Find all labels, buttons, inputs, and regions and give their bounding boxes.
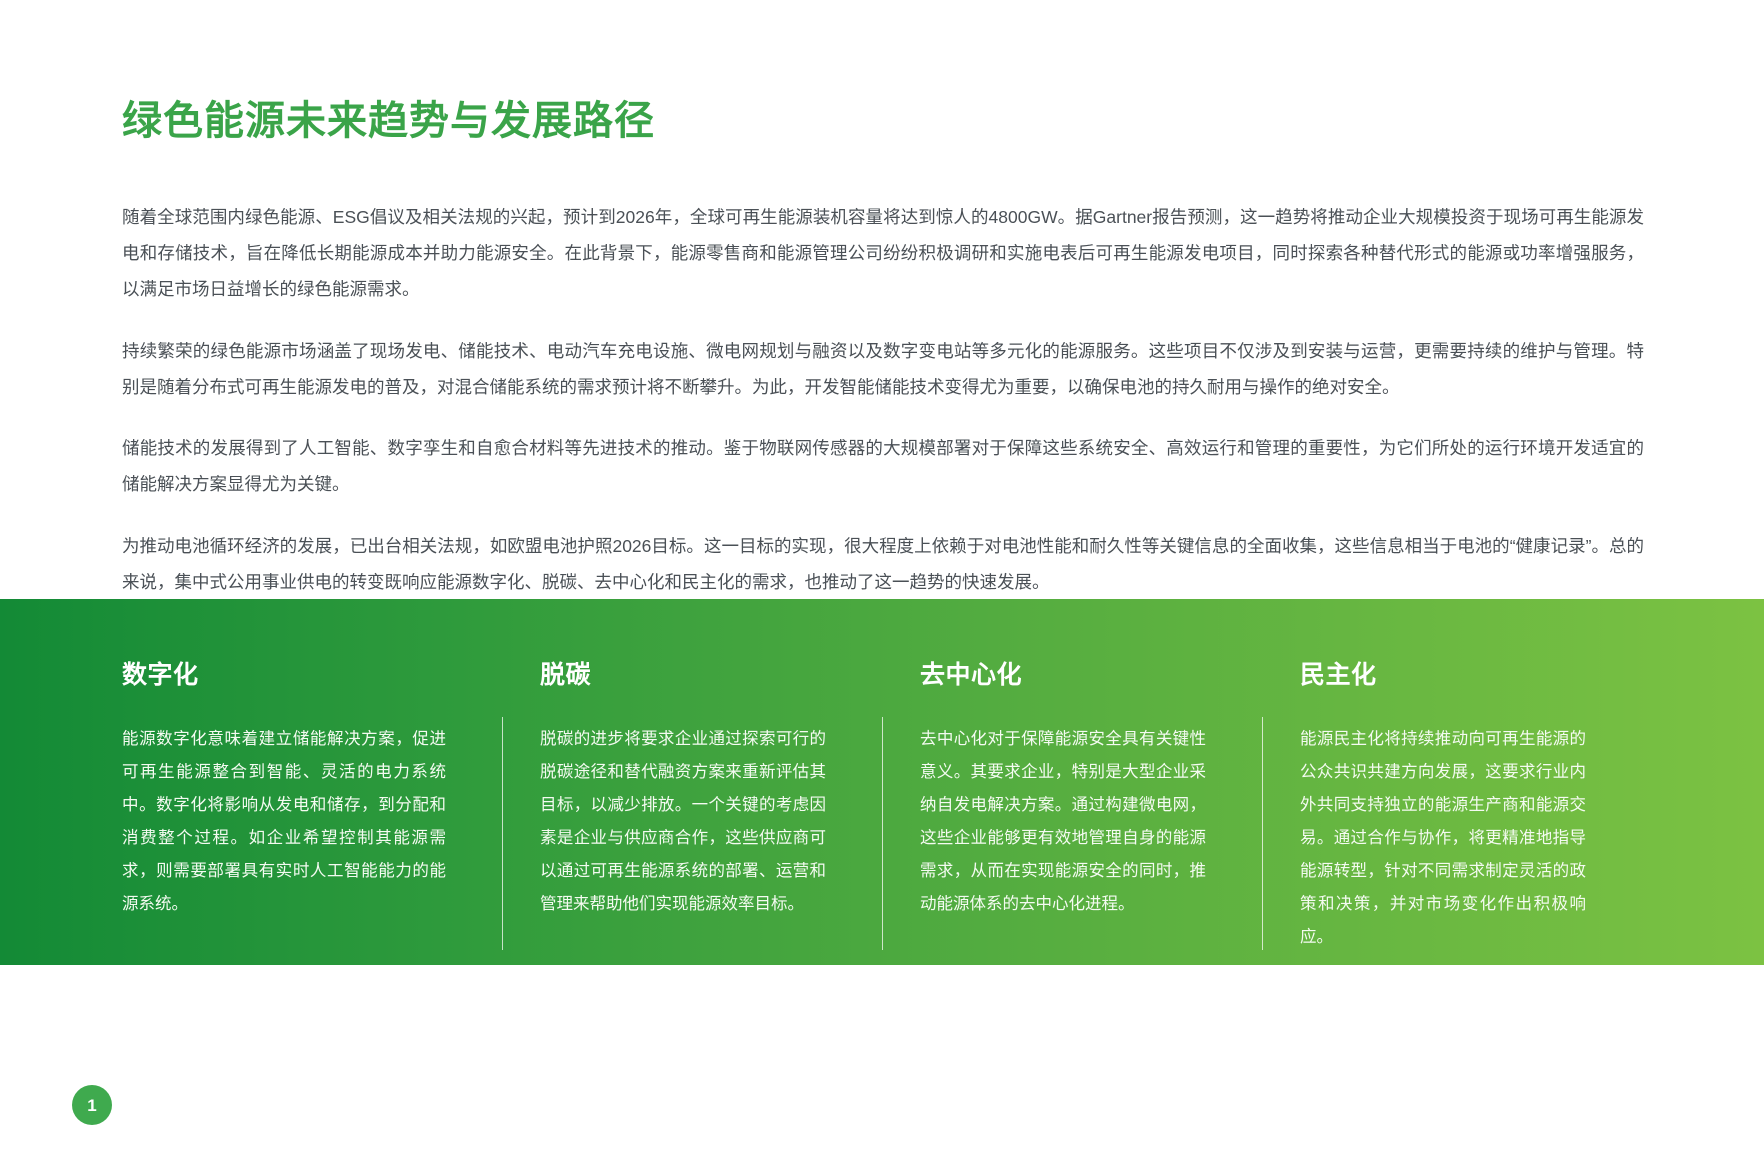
pillar-card-title: 去中心化 [920,655,1206,691]
paragraph: 储能技术的发展得到了人工智能、数字孪生和自愈合材料等先进技术的推动。鉴于物联网传… [122,431,1644,503]
paragraph: 持续繁荣的绿色能源市场涵盖了现场发电、储能技术、电动汽车充电设施、微电网规划与融… [122,334,1644,406]
pillar-card-body: 脱碳的进步将要求企业通过探索可行的脱碳途径和替代融资方案来重新评估其目标，以减少… [540,723,826,921]
paragraph: 随着全球范围内绿色能源、ESG倡议及相关法规的兴起，预计到2026年，全球可再生… [122,200,1644,308]
pillar-card-title: 脱碳 [540,655,826,691]
document-page: 绿色能源未来趋势与发展路径 随着全球范围内绿色能源、ESG倡议及相关法规的兴起，… [0,0,1764,1172]
pillar-card-digitalization: 数字化 能源数字化意味着建立储能解决方案，促进可再生能源整合到智能、灵活的电力系… [122,655,502,954]
paragraph: 为推动电池循环经济的发展，已出台相关法规，如欧盟电池护照2026目标。这一目标的… [122,529,1644,601]
pillar-card-list: 数字化 能源数字化意味着建立储能解决方案，促进可再生能源整合到智能、灵活的电力系… [122,655,1642,954]
pillar-card-democratization: 民主化 能源民主化将持续推动向可再生能源的公众共识共建方向发展，这要求行业内外共… [1262,655,1642,954]
body-copy: 随着全球范围内绿色能源、ESG倡议及相关法规的兴起，预计到2026年，全球可再生… [122,200,1644,601]
pillar-card-title: 民主化 [1300,655,1586,691]
pillar-card-decentralization: 去中心化 去中心化对于保障能源安全具有关键性意义。其要求企业，特别是大型企业采纳… [882,655,1262,954]
page-number-badge: 1 [72,1085,112,1125]
page-title: 绿色能源未来趋势与发展路径 [122,96,1662,146]
pillar-card-title: 数字化 [122,655,446,691]
pillar-card-body: 能源数字化意味着建立储能解决方案，促进可再生能源整合到智能、灵活的电力系统中。数… [122,723,446,921]
pillar-card-body: 去中心化对于保障能源安全具有关键性意义。其要求企业，特别是大型企业采纳自发电解决… [920,723,1206,921]
pillar-card-body: 能源民主化将持续推动向可再生能源的公众共识共建方向发展，这要求行业内外共同支持独… [1300,723,1586,954]
pillar-card-decarbonization: 脱碳 脱碳的进步将要求企业通过探索可行的脱碳途径和替代融资方案来重新评估其目标，… [502,655,882,954]
page-title-container: 绿色能源未来趋势与发展路径 [122,96,1662,146]
